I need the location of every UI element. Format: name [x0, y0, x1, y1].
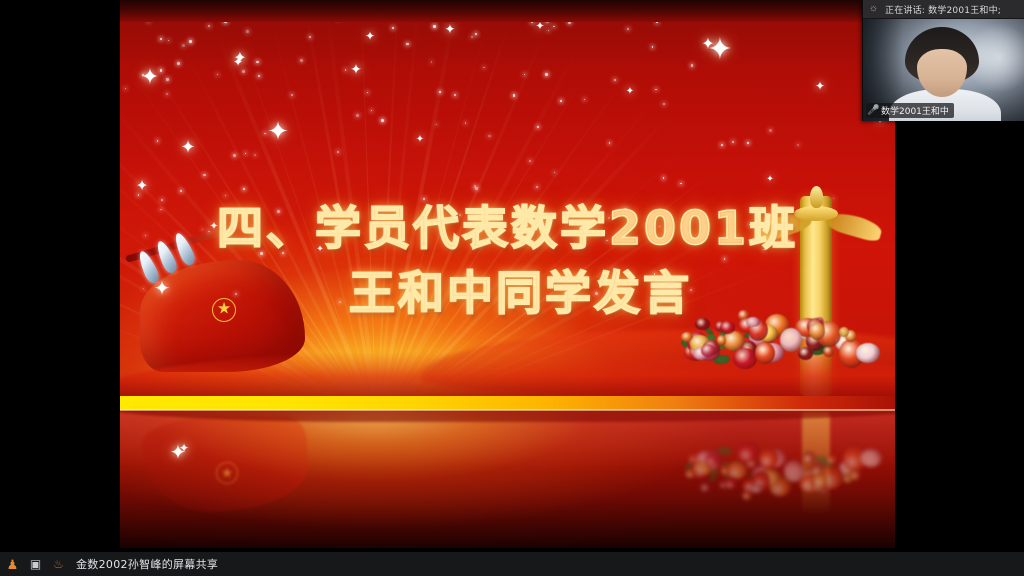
video-panel-header[interactable]: ☼ 正在讲话: 数学2001王和中; [863, 0, 1024, 19]
screen-share-status-label: 金数2002孙智峰的屏幕共享 [76, 556, 218, 572]
slide-reflection-area [120, 410, 895, 548]
speaking-icon: ☼ [867, 3, 880, 16]
shared-slide[interactable]: ✦✦✦✦✦✦✦✦✦✦✦✦✦✦✦✦✦✦✦✦✦✦ [120, 0, 895, 548]
bottom-status-bar[interactable]: ♟ ▣ ♨ 金数2002孙智峰的屏幕共享 [0, 552, 1024, 576]
horizon-line [120, 409, 895, 411]
slide-title-line-1: 四、学员代表数学2001班 [120, 196, 895, 261]
participant-name: 数学2001王和中 [881, 104, 949, 117]
slide-title-block: 四、学员代表数学2001班 王和中同学发言 [120, 196, 895, 327]
participant-name-badge: 🎤 数学2001王和中 [866, 103, 954, 118]
microphone-icon: 🎤 [869, 105, 878, 116]
active-speaker-video-panel[interactable]: ☼ 正在讲话: 数学2001王和中; 🎤 数学2001王和中 [862, 0, 1024, 121]
participants-icon[interactable]: ♟ [4, 557, 21, 572]
screen-share-icon[interactable]: ▣ [27, 557, 44, 572]
video-feed[interactable]: 🎤 数学2001王和中 [863, 19, 1024, 121]
speaker-icon[interactable]: ♨ [50, 557, 67, 572]
flower-reflection [680, 458, 876, 502]
slide-title-line-2: 王和中同学发言 [120, 261, 895, 326]
meeting-screen: ✦✦✦✦✦✦✦✦✦✦✦✦✦✦✦✦✦✦✦✦✦✦ [0, 0, 1024, 576]
slide-top-vignette [120, 0, 895, 22]
star-emblem-reflection-icon [216, 462, 238, 484]
letterbox-left [0, 0, 120, 552]
video-panel-header-title: 正在讲话: 数学2001王和中; [885, 3, 1001, 16]
